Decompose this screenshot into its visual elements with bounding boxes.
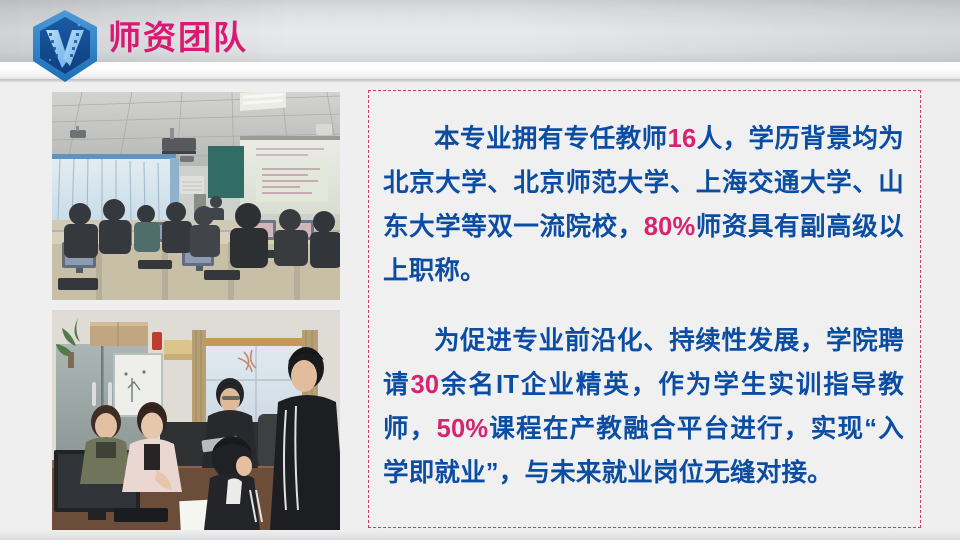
presentation-slide: 师资团队 xyxy=(0,0,960,540)
highlight-senior-title-percent: 80% xyxy=(644,213,696,241)
highlight-industry-mentor-count: 30 xyxy=(411,371,440,399)
highlight-course-percent: 50% xyxy=(437,415,489,443)
paragraph-faculty: 本专业拥有专任教师16人，学历背景均为北京大学、北京师范大学、上海交通大学、山东… xyxy=(383,117,904,293)
description-text-panel: 本专业拥有专任教师16人，学历背景均为北京大学、北京师范大学、上海交通大学、山东… xyxy=(368,90,921,528)
paragraph-industry: 为促进专业前沿化、持续性发展，学院聘请30余名IT企业精英，作为学生实训指导教师… xyxy=(383,319,904,495)
hexagon-v-filmstrip-logo-icon xyxy=(30,8,100,84)
header-shelf-highlight xyxy=(0,62,960,79)
page-title: 师资团队 xyxy=(108,18,248,58)
photo-classroom xyxy=(52,92,340,300)
highlight-faculty-count: 16 xyxy=(668,125,697,153)
text-segment: 本专业拥有专任教师 xyxy=(434,125,668,153)
slide-bottom-strip xyxy=(0,531,960,540)
photo-mentoring xyxy=(52,310,340,530)
